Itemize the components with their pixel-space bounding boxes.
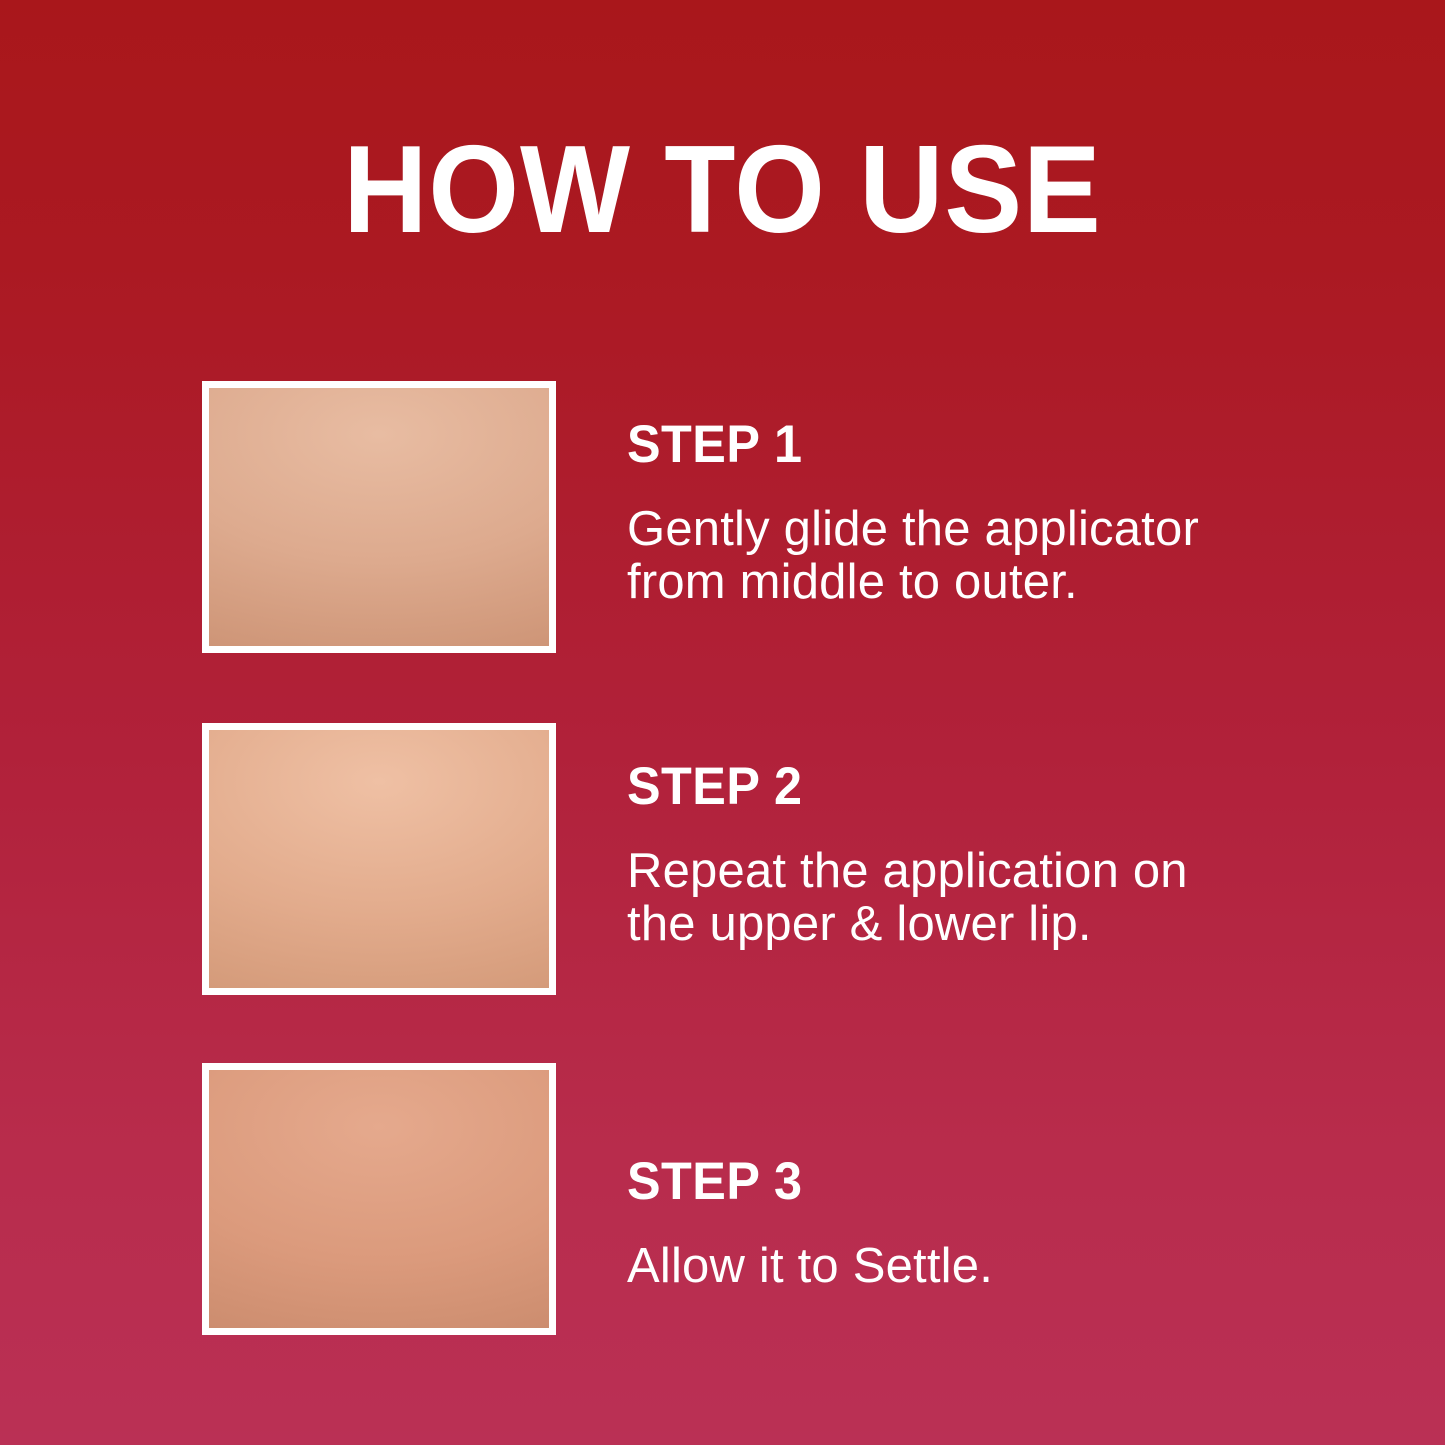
step-2-photo-frame xyxy=(202,723,556,995)
step-1-body: Gently glide the applicator from middle … xyxy=(627,503,1267,609)
step-1-heading: STEP 1 xyxy=(627,418,1235,471)
step-2-heading: STEP 2 xyxy=(627,760,1235,813)
step-2-photo xyxy=(209,730,549,988)
step-3-text-block: STEP 3 Allow it to Settle. xyxy=(627,1155,1267,1293)
step-3-photo xyxy=(209,1070,549,1328)
step-2-text-block: STEP 2 Repeat the application on the upp… xyxy=(627,760,1267,951)
step-2-body: Repeat the application on the upper & lo… xyxy=(627,845,1267,951)
skin-backdrop xyxy=(209,1070,549,1328)
how-to-use-infographic: HOW TO USE xyxy=(0,0,1445,1445)
step-row-1: STEP 1 Gently glide the applicator from … xyxy=(0,381,1445,653)
skin-backdrop xyxy=(209,388,549,646)
step-row-3: STEP 3 Allow it to Settle. xyxy=(0,1063,1445,1336)
step-1-photo-frame xyxy=(202,381,556,653)
step-1-photo xyxy=(209,388,549,646)
step-1-text-block: STEP 1 Gently glide the applicator from … xyxy=(627,418,1267,609)
step-3-body: Allow it to Settle. xyxy=(627,1240,1267,1293)
step-3-photo-frame xyxy=(202,1063,556,1335)
step-3-heading: STEP 3 xyxy=(627,1155,1235,1208)
skin-backdrop xyxy=(209,730,549,988)
page-title: HOW TO USE xyxy=(43,128,1401,252)
step-row-2: STEP 2 Repeat the application on the upp… xyxy=(0,723,1445,995)
